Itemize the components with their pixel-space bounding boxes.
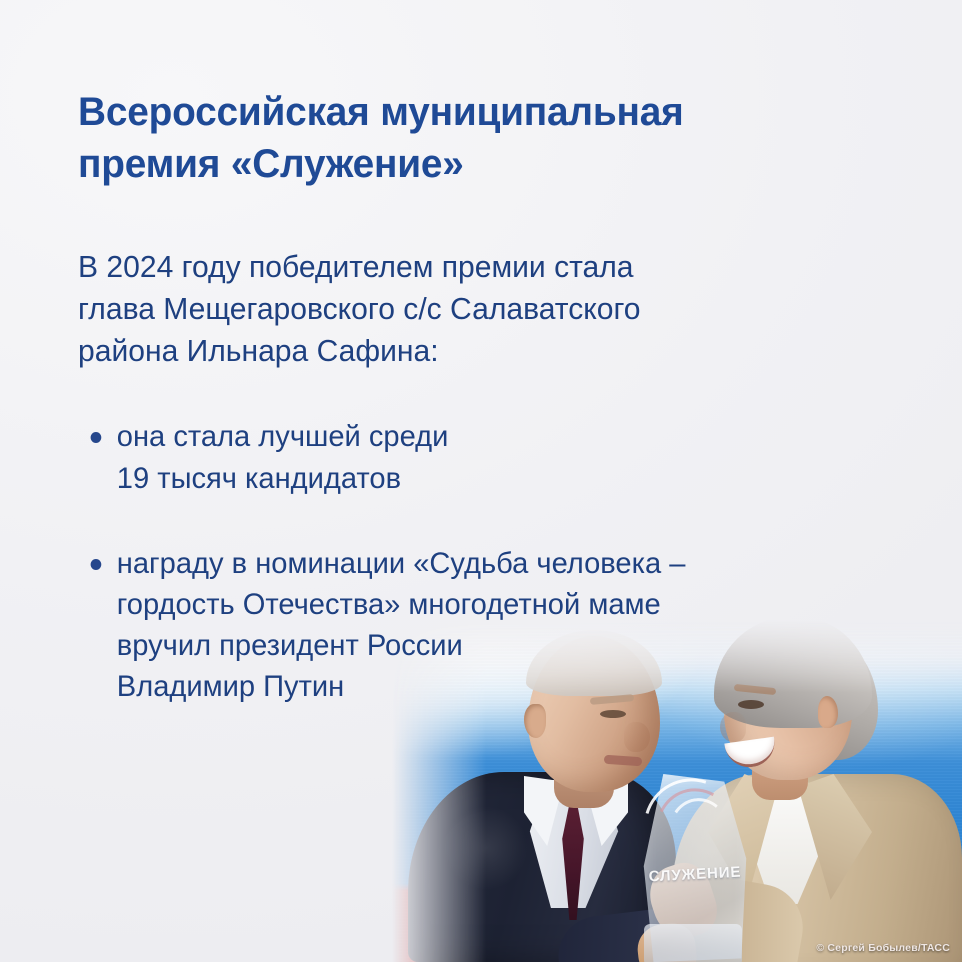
- text-content: Всероссийская муниципальная премия «Служ…: [78, 86, 878, 707]
- infographic-card: СЛУЖЕНИЕ © Сергей Бобылев/ТАСС Всероссий…: [0, 0, 962, 962]
- list-item: она стала лучшей среди 19 тысяч кандидат…: [78, 416, 796, 498]
- bullet-dot-icon: [91, 432, 102, 443]
- sluzhenie-award-trophy: СЛУЖЕНИЕ: [634, 774, 756, 962]
- safina-nose: [720, 712, 746, 742]
- putin-eye: [600, 710, 626, 718]
- bullet-dot-icon: [91, 559, 102, 570]
- page-title: Всероссийская муниципальная премия «Служ…: [78, 86, 757, 190]
- list-item-text: она стала лучшей среди 19 тысяч кандидат…: [117, 420, 449, 494]
- photo-credit: © Сергей Бобылев/ТАСС: [816, 942, 950, 954]
- putin-ear: [524, 704, 546, 738]
- list-item-text: награду в номинации «Судьба человека – г…: [117, 547, 686, 703]
- list-item: награду в номинации «Судьба человека – г…: [78, 543, 796, 707]
- fact-list: она стала лучшей среди 19 тысяч кандидат…: [78, 416, 818, 707]
- trophy-base: [644, 924, 742, 962]
- intro-paragraph: В 2024 году победителем премии стала гла…: [78, 246, 786, 372]
